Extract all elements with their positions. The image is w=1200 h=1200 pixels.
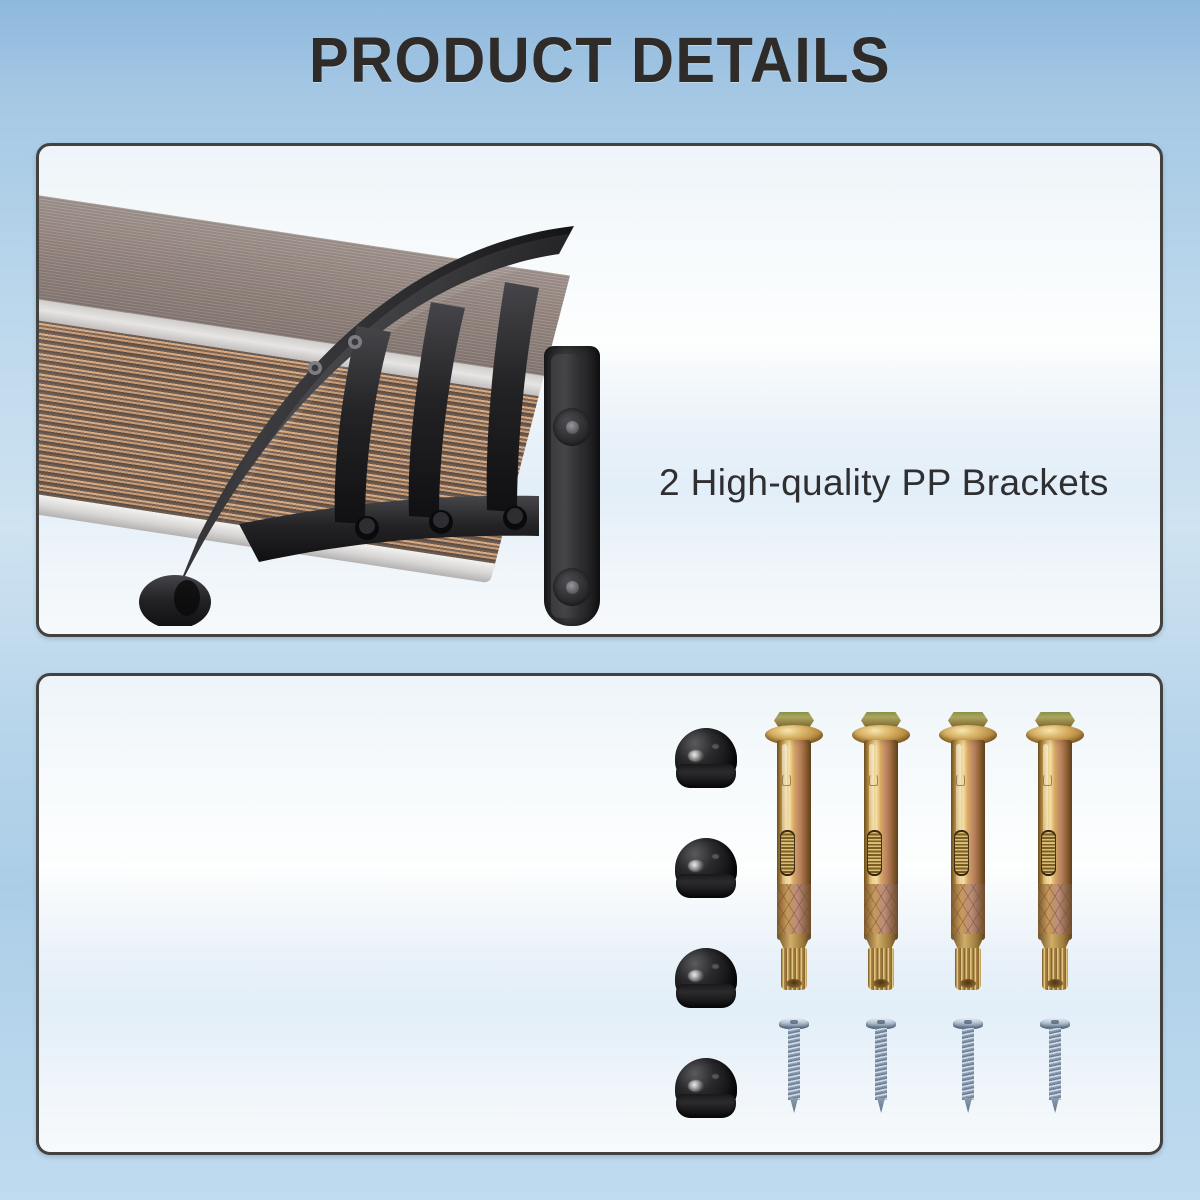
pp-bracket bbox=[39, 146, 1163, 637]
expansion-anchor-bolt bbox=[1026, 712, 1084, 990]
black-dome-cap bbox=[675, 728, 737, 790]
expansion-anchor-bolt bbox=[939, 712, 997, 990]
black-dome-cap bbox=[675, 838, 737, 900]
black-dome-cap bbox=[675, 948, 737, 1010]
hardware-illustration bbox=[39, 676, 1163, 1155]
self-tapping-screw bbox=[779, 1018, 809, 1113]
self-tapping-screw bbox=[866, 1018, 896, 1113]
canopy-bracket-illustration bbox=[39, 146, 1163, 637]
page-header: PRODUCT DETAILS bbox=[0, 28, 1200, 92]
self-tapping-screw bbox=[953, 1018, 983, 1113]
bracket-screw-top bbox=[553, 408, 591, 446]
black-dome-cap bbox=[675, 1058, 737, 1120]
panel-accessory: Accessory Included bbox=[36, 673, 1163, 1155]
brackets-label: 2 High-quality PP Brackets bbox=[659, 462, 1109, 504]
expansion-anchor-bolt bbox=[852, 712, 910, 990]
expansion-anchor-bolt bbox=[765, 712, 823, 990]
self-tapping-screw bbox=[1040, 1018, 1070, 1113]
bracket-wall-plate bbox=[544, 346, 600, 626]
bracket-screw-bottom bbox=[553, 568, 591, 606]
bracket-arc-body bbox=[119, 206, 589, 626]
panel-brackets: 2 High-quality PP Brackets bbox=[36, 143, 1163, 637]
page-title: PRODUCT DETAILS bbox=[42, 28, 1158, 92]
